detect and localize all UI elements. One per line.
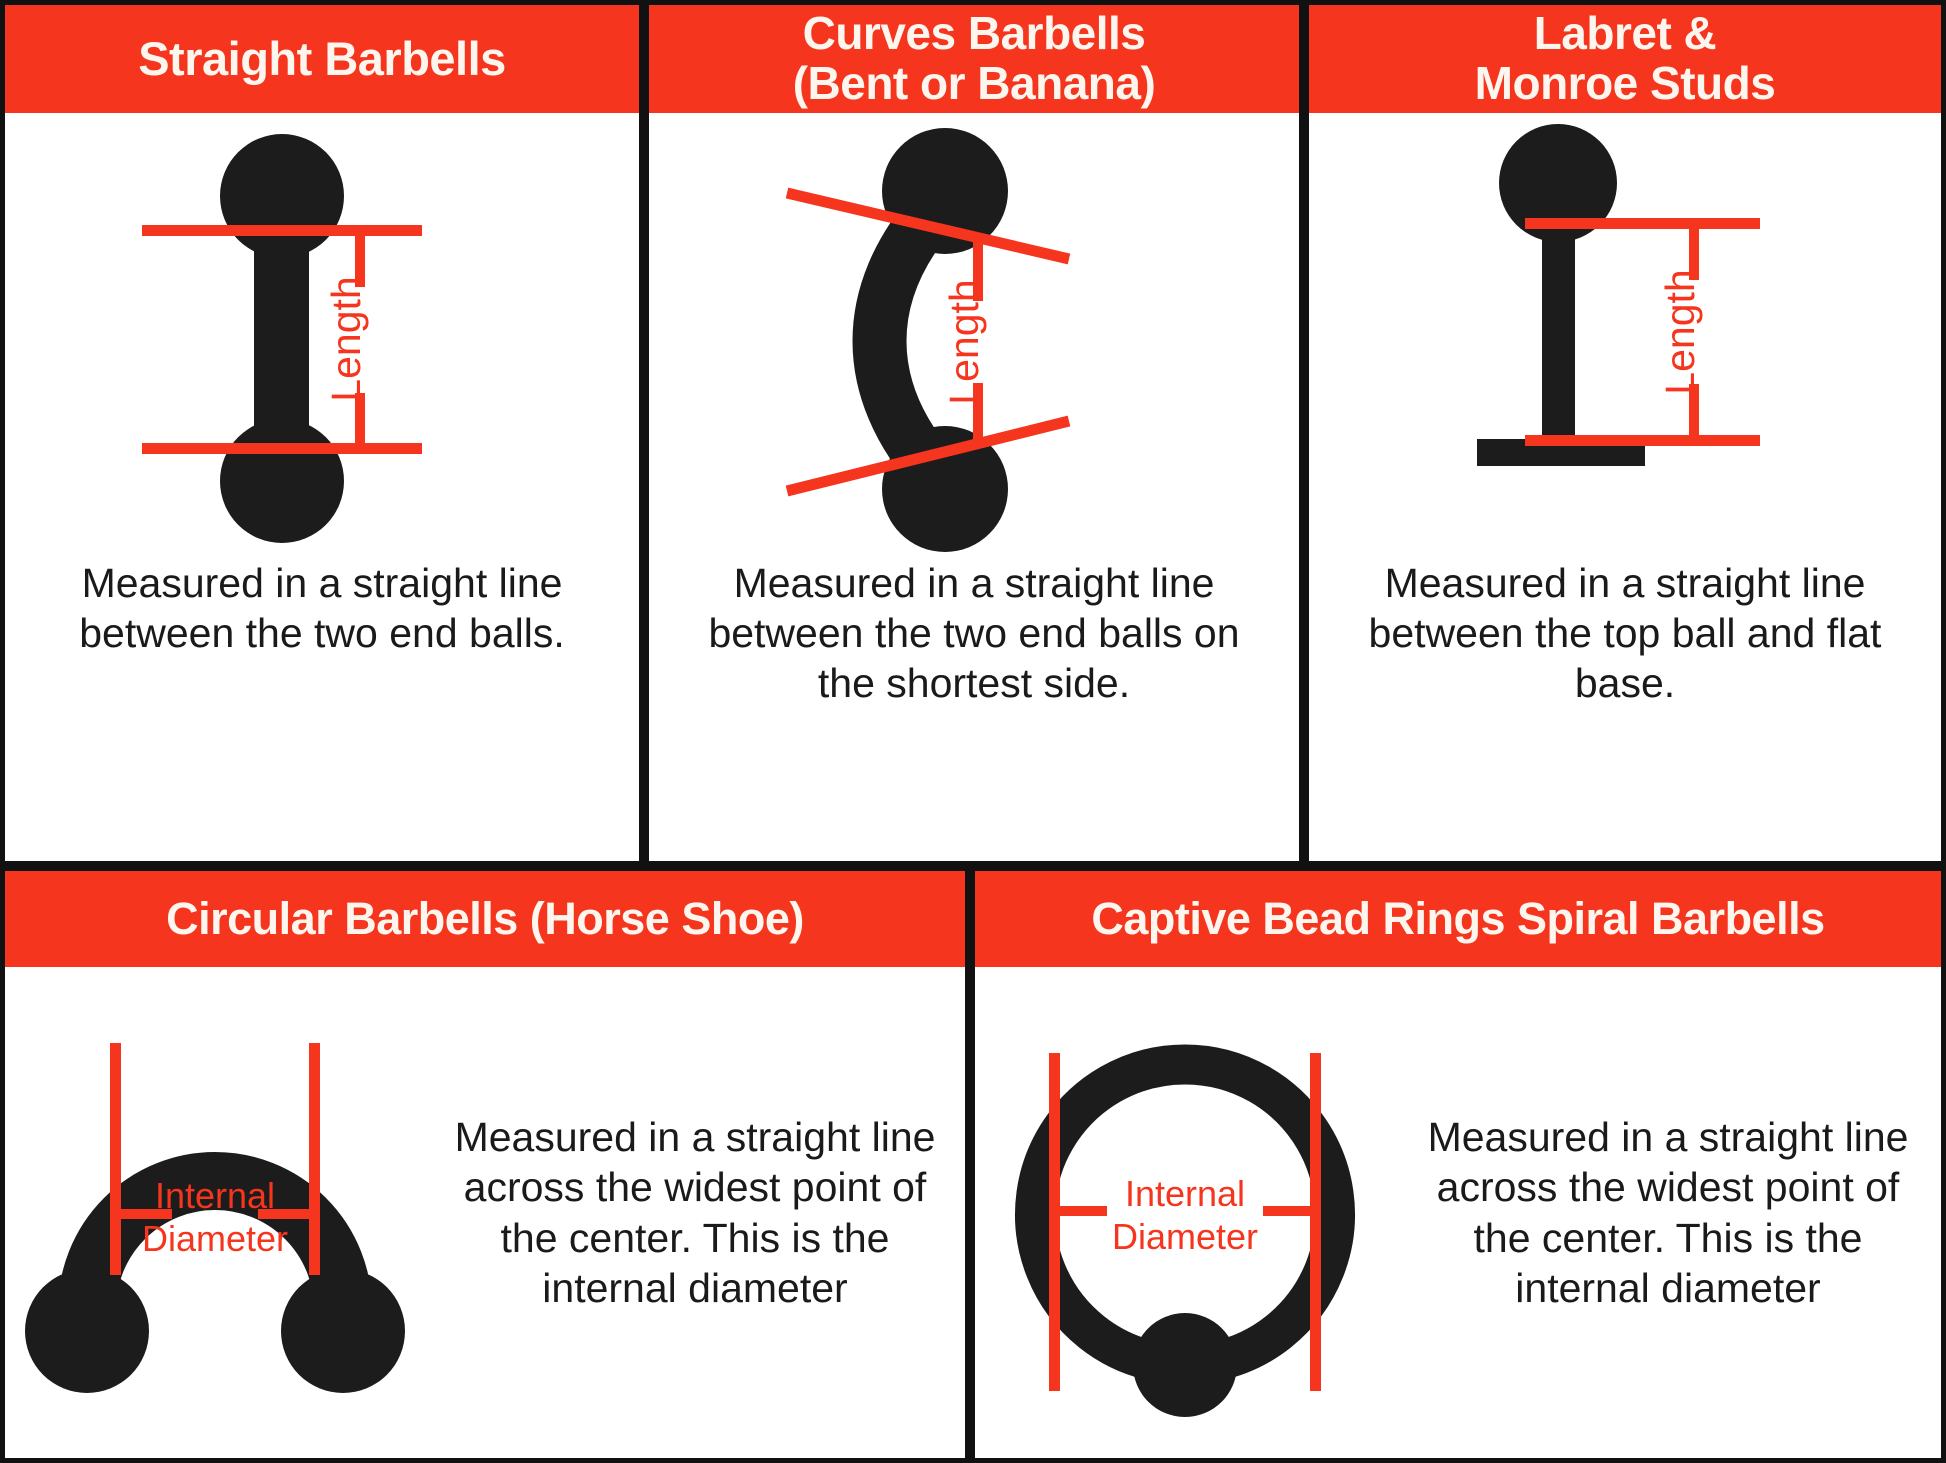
horseshoe-left-ball-icon bbox=[25, 1269, 149, 1393]
panel-circular-barbells: Circular Barbells (Horse Shoe) bbox=[0, 866, 970, 1463]
measurement-guide-infographic: Straight Barbells bbox=[0, 0, 1946, 1463]
internal-diameter-label-line-2: Diameter bbox=[1112, 1216, 1258, 1257]
horseshoe-right-ball-icon bbox=[281, 1269, 405, 1393]
panel-labret-monroe-studs-header: Labret & Monroe Studs bbox=[1309, 5, 1941, 113]
ring-left-measure-line bbox=[1049, 1053, 1060, 1391]
panel-straight-barbells: Straight Barbells bbox=[0, 0, 644, 866]
captive-bead-ring-diagram: Internal Diameter bbox=[985, 1013, 1385, 1413]
horseshoe-barbell-diagram-area: Internal Diameter bbox=[5, 967, 425, 1458]
panel-circular-barbells-body: Internal Diameter Measured in a straight… bbox=[5, 967, 965, 1458]
length-label: Length bbox=[323, 276, 369, 401]
barbell-bottom-ball-icon bbox=[220, 419, 344, 543]
curved-barbell-diagram-area: Length bbox=[649, 113, 1299, 558]
straight-barbell-diagram-area: Length bbox=[5, 113, 639, 558]
horseshoe-left-measure-line bbox=[110, 1043, 121, 1275]
panel-captive-bead-rings-title-line-1: Captive Bead Rings Spiral Barbells bbox=[1091, 895, 1824, 944]
panel-straight-barbells-title-line-1: Straight Barbells bbox=[138, 34, 506, 85]
panel-captive-bead-rings-caption: Measured in a straight line across the w… bbox=[1395, 1112, 1941, 1314]
length-label: Length bbox=[1657, 269, 1703, 394]
bottom-extension-line bbox=[142, 443, 422, 454]
panel-circular-barbells-header: Circular Barbells (Horse Shoe) bbox=[5, 871, 965, 967]
panel-curves-barbells-title-line-2: (Bent or Banana) bbox=[793, 59, 1156, 109]
panel-curves-barbells-title-line-1: Curves Barbells bbox=[793, 9, 1156, 59]
internal-diameter-label-line-1: Internal bbox=[155, 1175, 275, 1216]
ring-right-arrow-stub bbox=[1263, 1206, 1321, 1216]
top-extension-line bbox=[142, 225, 422, 236]
panel-curves-barbells-caption: Measured in a straight line between the … bbox=[649, 558, 1299, 708]
internal-diameter-label-line-1: Internal bbox=[1125, 1173, 1245, 1214]
panel-circular-barbells-title-line-1: Circular Barbells (Horse Shoe) bbox=[166, 895, 804, 944]
panel-captive-bead-rings-header: Captive Bead Rings Spiral Barbells bbox=[975, 871, 1941, 967]
panel-labret-monroe-studs-title-line-1: Labret & bbox=[1475, 9, 1776, 59]
bottom-row: Circular Barbells (Horse Shoe) bbox=[0, 866, 1946, 1463]
horseshoe-right-measure-line bbox=[309, 1043, 320, 1275]
labret-bottom-extension-line bbox=[1525, 435, 1760, 446]
labret-stud-diagram: Length bbox=[1405, 121, 1845, 551]
panel-curves-barbells-header: Curves Barbells (Bent or Banana) bbox=[649, 5, 1299, 113]
panel-labret-monroe-studs-title-line-2: Monroe Studs bbox=[1475, 59, 1776, 109]
straight-barbell-diagram: Length bbox=[102, 121, 542, 551]
ring-right-measure-line bbox=[1310, 1053, 1321, 1391]
labret-top-extension-line bbox=[1525, 218, 1760, 229]
panel-straight-barbells-header: Straight Barbells bbox=[5, 5, 639, 113]
panel-labret-monroe-studs-caption: Measured in a straight line between the … bbox=[1309, 558, 1941, 708]
ring-left-arrow-stub bbox=[1049, 1206, 1107, 1216]
panel-straight-barbells-body: Length Measured in a straight line betwe… bbox=[5, 113, 639, 861]
panel-curves-barbells-body: Length Measured in a straight line betwe… bbox=[649, 113, 1299, 861]
panel-curves-barbells: Curves Barbells (Bent or Banana) bbox=[644, 0, 1304, 866]
captive-bead-ring-diagram-area: Internal Diameter bbox=[975, 967, 1395, 1458]
barbell-top-ball-icon bbox=[220, 134, 344, 258]
panel-captive-bead-rings: Captive Bead Rings Spiral Barbells bbox=[970, 866, 1946, 1463]
panel-labret-monroe-studs: Labret & Monroe Studs bbox=[1304, 0, 1946, 866]
captive-bead-icon bbox=[1133, 1313, 1237, 1417]
panel-labret-monroe-studs-body: Length Measured in a straight line betwe… bbox=[1309, 113, 1941, 861]
curved-barbell-diagram: Length bbox=[739, 121, 1209, 551]
internal-diameter-label-line-2: Diameter bbox=[142, 1218, 288, 1259]
length-label: Length bbox=[941, 279, 987, 404]
top-row: Straight Barbells bbox=[0, 0, 1946, 866]
panel-captive-bead-rings-body: Internal Diameter Measured in a straight… bbox=[975, 967, 1941, 1458]
panel-straight-barbells-caption: Measured in a straight line between the … bbox=[5, 558, 639, 658]
panel-circular-barbells-caption: Measured in a straight line across the w… bbox=[425, 1112, 965, 1314]
horseshoe-barbell-diagram: Internal Diameter bbox=[15, 1013, 415, 1413]
labret-stud-diagram-area: Length bbox=[1309, 113, 1941, 558]
